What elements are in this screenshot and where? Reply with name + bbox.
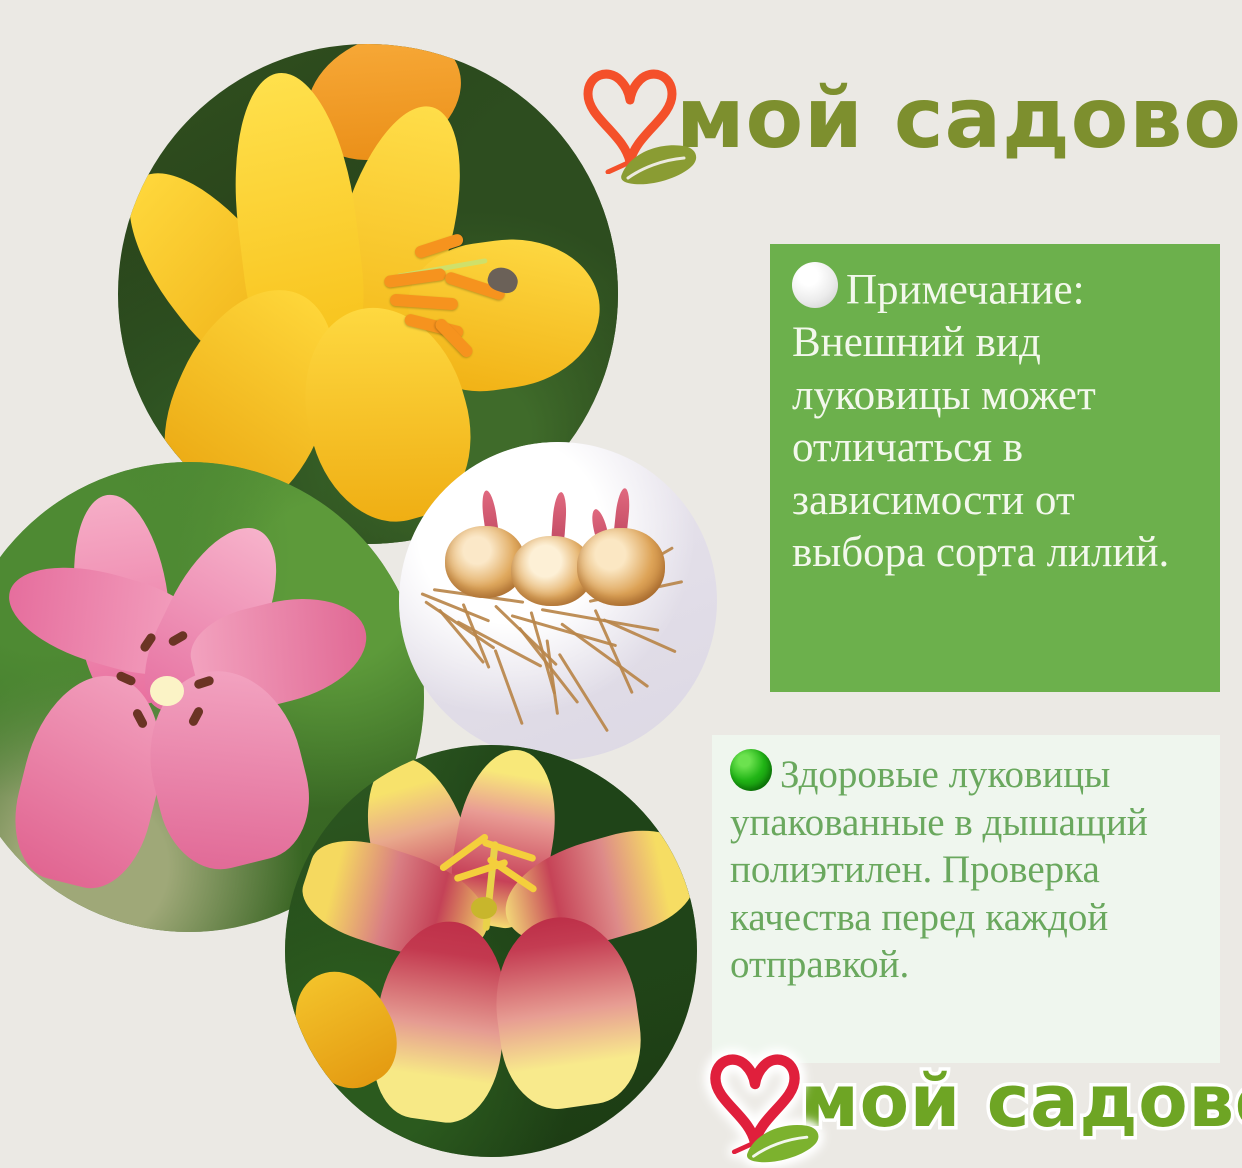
heart-outline-icon [578, 62, 682, 174]
note-mint-text: Здоровые луковицы упакованные в дышащий … [730, 753, 1148, 986]
leaf-icon [618, 134, 702, 190]
heart-outline-icon [706, 1048, 804, 1154]
green-circle-bullet-icon [730, 749, 772, 791]
brand-wordmark: мой садовод [800, 1065, 1242, 1137]
bicolor-lily-scene [285, 745, 697, 1157]
brand-logo-top[interactable]: мой садовод [578, 62, 1242, 174]
bulb-root [494, 649, 524, 725]
note-green-box: Примечание: Внешний вид луковицы может о… [770, 244, 1220, 692]
lily-bulb [577, 528, 665, 606]
bicolor-lily-petal [484, 908, 649, 1116]
lily-bulbs-scene [399, 442, 717, 760]
note-mint-box: Здоровые луковицы упакованные в дышащий … [712, 735, 1220, 1063]
leaf-icon [744, 1114, 824, 1168]
poster-canvas: мой садовод Примечание: Внешний вид луко… [0, 0, 1242, 1164]
brand-logo-bottom[interactable]: мой садовод [706, 1048, 1242, 1154]
photo-lily-bulbs [399, 442, 717, 760]
pink-lily-center [150, 676, 184, 706]
note-mint-text-wrap: Здоровые луковицы упакованные в дышащий … [730, 749, 1204, 989]
bulb-root [558, 653, 609, 733]
white-circle-bullet-icon [792, 262, 838, 308]
note-green-text: Примечание: Внешний вид луковицы может о… [792, 267, 1169, 576]
photo-bicolor-lily [285, 745, 697, 1157]
note-green-text-wrap: Примечание: Внешний вид луковицы может о… [792, 262, 1198, 579]
brand-wordmark: мой садовод [676, 76, 1242, 160]
bicolor-lily-center [471, 897, 497, 919]
